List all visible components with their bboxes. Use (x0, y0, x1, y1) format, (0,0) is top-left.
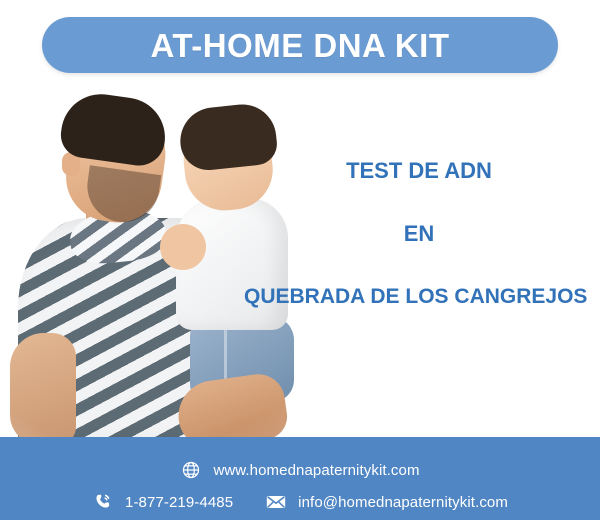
footer-email-label: info@homednapaternitykit.com (298, 494, 508, 511)
globe-icon (180, 459, 202, 481)
phone-icon (92, 491, 114, 513)
headline-line-location: QUEBRADA DE LOS CANGREJOS (244, 286, 600, 307)
envelope-icon (265, 491, 287, 513)
headline-line-service: TEST DE ADN (238, 160, 600, 182)
footer-website-label: www.homednapaternitykit.com (213, 462, 419, 479)
headline-block: TEST DE ADN EN QUEBRADA DE LOS CANGREJOS (230, 160, 600, 307)
footer-row-phone-email: 1-877-219-4485 info@homednapaternitykit.… (0, 487, 600, 517)
page-title: AT-HOME DNA KIT (151, 29, 450, 62)
footer-website[interactable]: www.homednapaternitykit.com (180, 459, 419, 481)
footer-contact-bar: www.homednapaternitykit.com 1-877-219-44… (0, 437, 600, 520)
footer-email[interactable]: info@homednapaternitykit.com (265, 491, 508, 513)
dna-kit-promo-banner: AT-HOME DNA KIT TEST DE ADN EN QUEBRADA … (0, 0, 600, 520)
footer-phone[interactable]: 1-877-219-4485 (92, 491, 233, 513)
headline-line-preposition: EN (238, 223, 600, 245)
father-arm (10, 333, 76, 440)
footer-phone-label: 1-877-219-4485 (125, 494, 233, 511)
header-pill-banner: AT-HOME DNA KIT (42, 17, 558, 73)
footer-row-website: www.homednapaternitykit.com (0, 455, 600, 485)
